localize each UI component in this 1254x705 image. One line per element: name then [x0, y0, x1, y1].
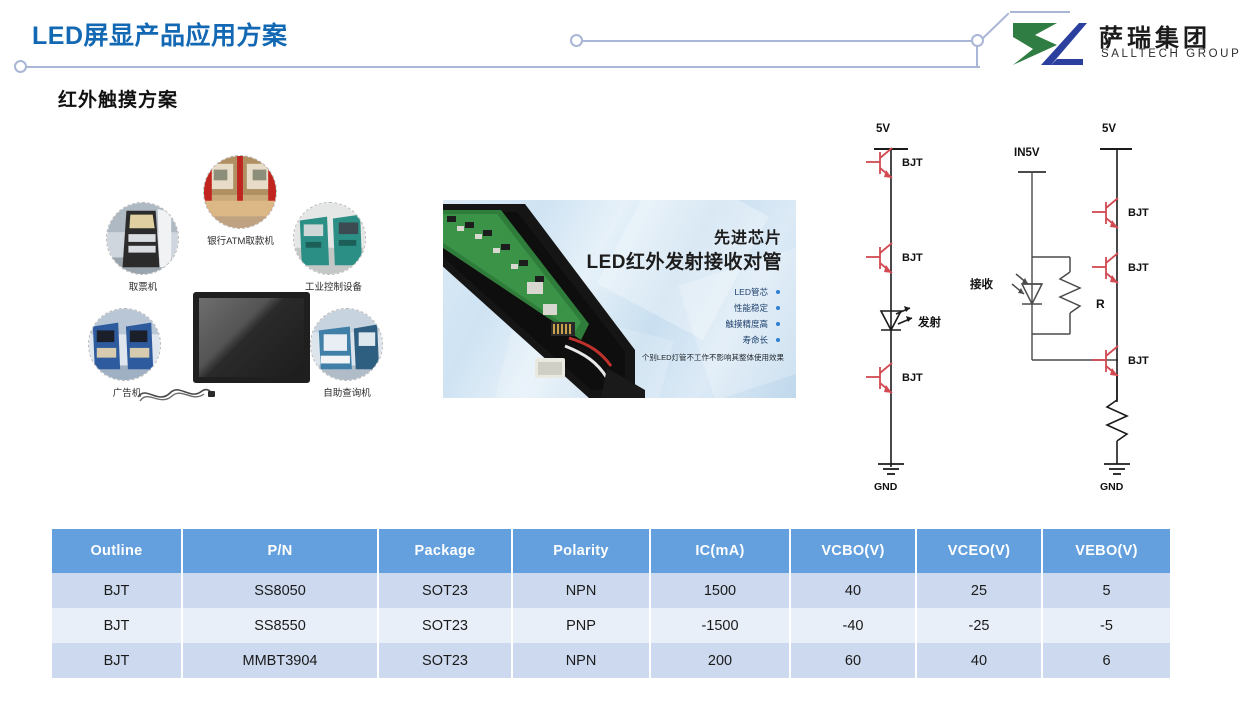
cell-vceo: 40 — [916, 643, 1042, 678]
cell-ic: 1500 — [650, 573, 790, 608]
banner-bullet-1: LED管芯 — [734, 286, 768, 298]
col-outline: Outline — [52, 529, 182, 573]
bjt-symbol-right-1 — [1092, 198, 1118, 228]
connector-line-top — [1010, 11, 1070, 13]
col-pn: P/N — [182, 529, 378, 573]
col-ic: IC(mA) — [650, 529, 790, 573]
connector-line-upper — [578, 40, 978, 42]
cell-ic: -1500 — [650, 608, 790, 643]
bjt-symbol-right-3 — [1092, 346, 1118, 376]
col-package: Package — [378, 529, 512, 573]
bjt-symbol-right-2 — [1092, 253, 1118, 283]
app-circle-ad — [88, 308, 161, 381]
advertising-machine-photo — [89, 309, 160, 380]
ground-symbol-right — [1104, 464, 1130, 474]
cell-pn: MMBT3904 — [182, 643, 378, 678]
cell-vceo: 25 — [916, 573, 1042, 608]
resistor-label-r: R — [1096, 297, 1105, 311]
table-row: BJT MMBT3904 SOT23 NPN 200 60 40 6 — [52, 643, 1170, 678]
receiver-label: 接收 — [970, 277, 993, 291]
col-vcbo: VCBO(V) — [790, 529, 916, 573]
cell-vcbo: -40 — [790, 608, 916, 643]
logo-mark-icon — [1011, 21, 1089, 67]
connector-node-right — [971, 34, 984, 47]
cell-package: SOT23 — [378, 573, 512, 608]
app-label-kiosk: 自助查询机 — [302, 385, 392, 399]
cell-pn: SS8050 — [182, 573, 378, 608]
table-header-row: Outline P/N Package Polarity IC(mA) VCBO… — [52, 529, 1170, 573]
app-label-industrial: 工业控制设备 — [286, 279, 381, 293]
supply-label-left: 5V — [876, 123, 890, 135]
banner-bullet-3: 触摸精度高 — [725, 318, 768, 330]
table-row: BJT SS8050 SOT23 NPN 1500 40 25 5 — [52, 573, 1170, 608]
brand-logo: 萨瑞集团 SALLTECH GROUP — [1011, 18, 1231, 74]
bjt-label-right-1: BJT — [1128, 207, 1149, 219]
connector-node-left — [14, 60, 27, 73]
cell-ic: 200 — [650, 643, 790, 678]
col-polarity: Polarity — [512, 529, 650, 573]
banner-title-line1: 先进芯片 — [714, 224, 782, 248]
table-row: BJT SS8550 SOT23 PNP -1500 -40 -25 -5 — [52, 608, 1170, 643]
app-label-atm: 银行ATM取款机 — [188, 233, 293, 247]
monitor-frame — [193, 292, 310, 383]
connector-line-lower — [20, 66, 980, 68]
bjt-symbol-1 — [866, 148, 892, 178]
series-resistor-symbol — [1107, 376, 1127, 464]
industrial-equipment-photo — [294, 203, 365, 274]
cell-polarity: NPN — [512, 573, 650, 608]
bjt-label-3: BJT — [902, 372, 923, 384]
photodiode-symbol — [1012, 274, 1042, 304]
cell-package: SOT23 — [378, 608, 512, 643]
cell-outline: BJT — [52, 608, 182, 643]
col-vebo: VEBO(V) — [1042, 529, 1170, 573]
app-label-ticket: 取票机 — [98, 279, 188, 293]
cell-vcbo: 40 — [790, 573, 916, 608]
self-service-kiosk-photo — [311, 309, 382, 380]
cell-pn: SS8550 — [182, 608, 378, 643]
cell-outline: BJT — [52, 643, 182, 678]
ground-label-right: GND — [1100, 481, 1124, 493]
banner-footnote: 个别LED灯管不工作不影响其整体使用效果 — [642, 352, 784, 363]
bjt-symbol-3 — [866, 363, 892, 393]
circuit-diagram-receiver: 接收 BJT BJT R BJT — [960, 112, 1190, 497]
banner-title-line2: LED红外发射接收对管 — [586, 247, 782, 274]
cell-package: SOT23 — [378, 643, 512, 678]
cell-outline: BJT — [52, 573, 182, 608]
bjt-label-right-2: BJT — [1128, 262, 1149, 274]
atm-photo — [204, 156, 276, 228]
bjt-label-right-3: BJT — [1128, 355, 1149, 367]
pcb-product-photo — [443, 200, 669, 398]
bjt-symbol-2 — [866, 243, 892, 273]
emitter-label: 发射 — [917, 315, 941, 329]
parallel-resistor-symbol — [1060, 257, 1080, 334]
monitor-screen — [199, 298, 304, 377]
spec-table: Outline P/N Package Polarity IC(mA) VCBO… — [52, 529, 1170, 678]
supply-label-right: 5V — [1102, 123, 1116, 135]
bjt-label-2: BJT — [902, 252, 923, 264]
bjt-label-1: BJT — [902, 157, 923, 169]
cell-polarity: NPN — [512, 643, 650, 678]
page-title: LED屏显产品应用方案 — [32, 16, 288, 52]
monitor-cable-icon — [136, 383, 216, 405]
cell-vebo: 6 — [1042, 643, 1170, 678]
app-circle-industrial — [293, 202, 366, 275]
logo-name-en: SALLTECH GROUP — [1101, 48, 1241, 60]
ticket-machine-photo — [107, 203, 178, 274]
connector-node-mid — [570, 34, 583, 47]
ground-label-left: GND — [874, 481, 898, 493]
input-label: IN5V — [1014, 147, 1040, 159]
cell-vebo: 5 — [1042, 573, 1170, 608]
cell-polarity: PNP — [512, 608, 650, 643]
cell-vcbo: 60 — [790, 643, 916, 678]
app-circle-atm — [203, 155, 277, 229]
banner-bullet-2: 性能稳定 — [734, 302, 768, 314]
product-banner: 先进芯片 LED红外发射接收对管 LED管芯 性能稳定 触摸精度高 寿命长 个别… — [443, 200, 796, 398]
led-emitter-symbol — [881, 306, 912, 330]
cell-vceo: -25 — [916, 608, 1042, 643]
page-header: LED屏显产品应用方案 萨瑞集团 SALLTECH GROUP — [0, 0, 1254, 86]
section-subtitle: 红外触摸方案 — [58, 85, 178, 112]
col-vceo: VCEO(V) — [916, 529, 1042, 573]
application-cluster: 银行ATM取款机 取票机 工业控制设备 — [88, 155, 408, 405]
touch-monitor — [193, 292, 310, 383]
cell-vebo: -5 — [1042, 608, 1170, 643]
banner-bullet-4: 寿命长 — [742, 334, 768, 346]
app-circle-kiosk — [310, 308, 383, 381]
connector-diagonal — [979, 12, 1009, 41]
app-circle-ticket — [106, 202, 179, 275]
